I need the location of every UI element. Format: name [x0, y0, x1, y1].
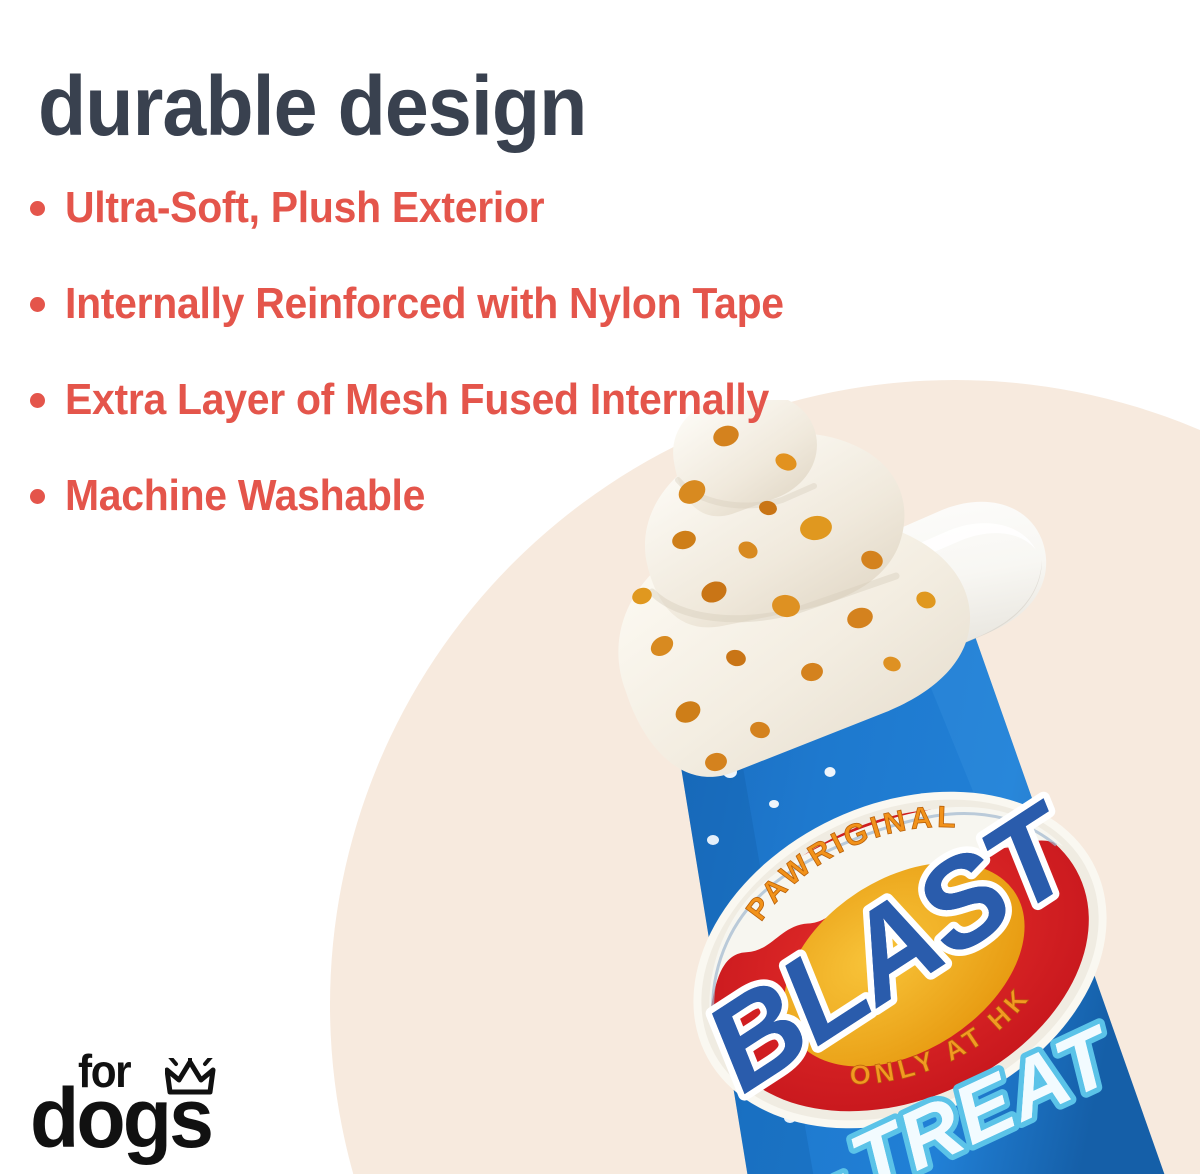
- page-title: durable design: [38, 62, 586, 150]
- bullet-dot-icon: [30, 489, 45, 504]
- list-item: Extra Layer of Mesh Fused Internally: [28, 352, 1028, 448]
- feature-label: Internally Reinforced with Nylon Tape: [65, 279, 784, 329]
- feature-label: Machine Washable: [65, 471, 425, 521]
- product-feature-graphic: durable design Ultra-Soft, Plush Exterio…: [0, 0, 1200, 1174]
- list-item: Machine Washable: [28, 448, 1028, 544]
- feature-label: Ultra-Soft, Plush Exterior: [65, 183, 544, 233]
- feature-list: Ultra-Soft, Plush Exterior Internally Re…: [28, 160, 1028, 544]
- feature-label: Extra Layer of Mesh Fused Internally: [65, 375, 769, 425]
- brand-logo: for dogs: [18, 1038, 268, 1160]
- bullet-dot-icon: [30, 201, 45, 216]
- logo-text-dogs: dogs: [30, 1070, 211, 1167]
- bullet-dot-icon: [30, 297, 45, 312]
- list-item: Ultra-Soft, Plush Exterior: [28, 160, 1028, 256]
- list-item: Internally Reinforced with Nylon Tape: [28, 256, 1028, 352]
- bullet-dot-icon: [30, 393, 45, 408]
